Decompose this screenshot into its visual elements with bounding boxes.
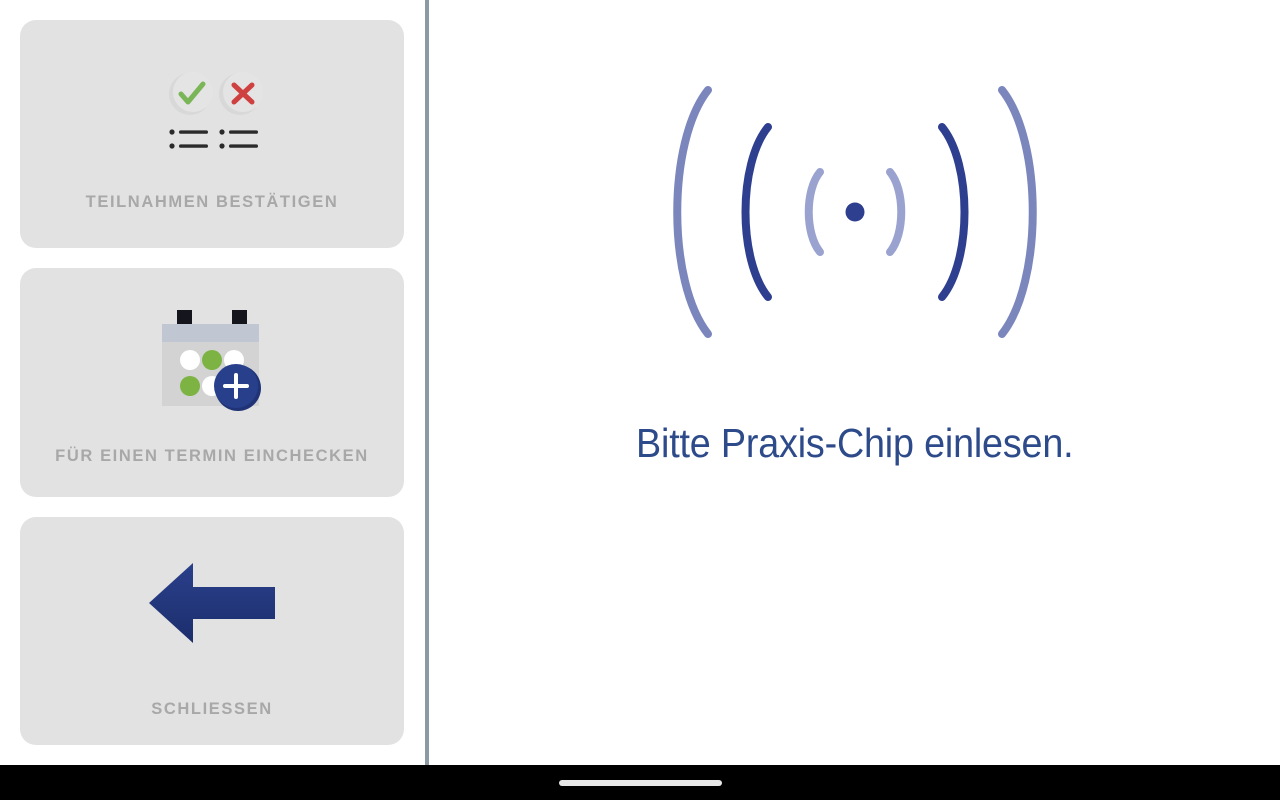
nfc-contactless-icon (640, 62, 1070, 362)
calendar-add-icon (20, 301, 404, 421)
main-content: Bitte Praxis-Chip einlesen. (429, 0, 1280, 765)
sidebar-item-confirm-attendance[interactable]: TEILNAHMEN BESTÄTIGEN (20, 20, 404, 248)
home-indicator[interactable] (559, 780, 722, 786)
checklist-approve-reject-icon (20, 61, 404, 171)
sidebar-item-checkin-appointment[interactable]: FÜR EINEN TERMIN EINCHECKEN (20, 268, 404, 496)
sidebar-item-label-confirm-attendance: TEILNAHMEN BESTÄTIGEN (86, 193, 339, 212)
sidebar-item-label-checkin-appointment: FÜR EINEN TERMIN EINCHECKEN (55, 447, 369, 466)
system-nav-bar (0, 765, 1280, 800)
sidebar-item-close[interactable]: SCHLIESSEN (20, 517, 404, 745)
sidebar-item-label-close: SCHLIESSEN (151, 700, 272, 719)
prompt-message: Bitte Praxis-Chip einlesen. (636, 420, 1073, 467)
sidebar: TEILNAHMEN BESTÄTIGEN (0, 0, 427, 765)
kiosk-screen: TEILNAHMEN BESTÄTIGEN (0, 0, 1280, 800)
arrow-left-icon (20, 548, 404, 658)
